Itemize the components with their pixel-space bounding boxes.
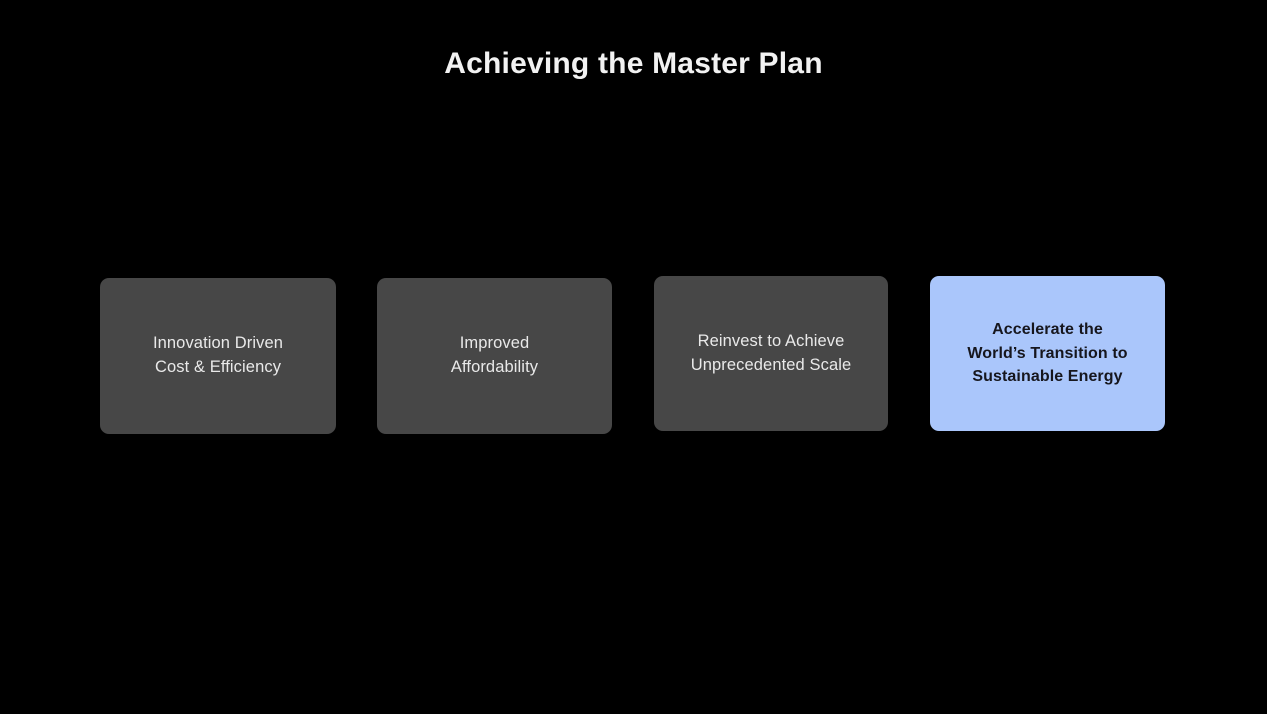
flow-card-label: Reinvest to Achieve Unprecedented Scale — [654, 330, 888, 377]
flow-card-label: Accelerate the World’s Transition to Sus… — [930, 318, 1165, 389]
flow-card-label: Improved Affordability — [377, 332, 612, 379]
flow-card-reinvest-unprecedented-scale[interactable]: Reinvest to Achieve Unprecedented Scale — [654, 276, 888, 431]
flow-card-innovation-driven-cost-efficiency[interactable]: Innovation Driven Cost & Efficiency — [100, 278, 336, 434]
slide-canvas: Achieving the Master Plan Innovation Dri… — [0, 0, 1267, 714]
flow-card-label: Innovation Driven Cost & Efficiency — [100, 332, 336, 379]
flow-card-accelerate-sustainable-energy[interactable]: Accelerate the World’s Transition to Sus… — [930, 276, 1165, 431]
page-title: Achieving the Master Plan — [0, 46, 1267, 82]
flow-card-improved-affordability[interactable]: Improved Affordability — [377, 278, 612, 434]
